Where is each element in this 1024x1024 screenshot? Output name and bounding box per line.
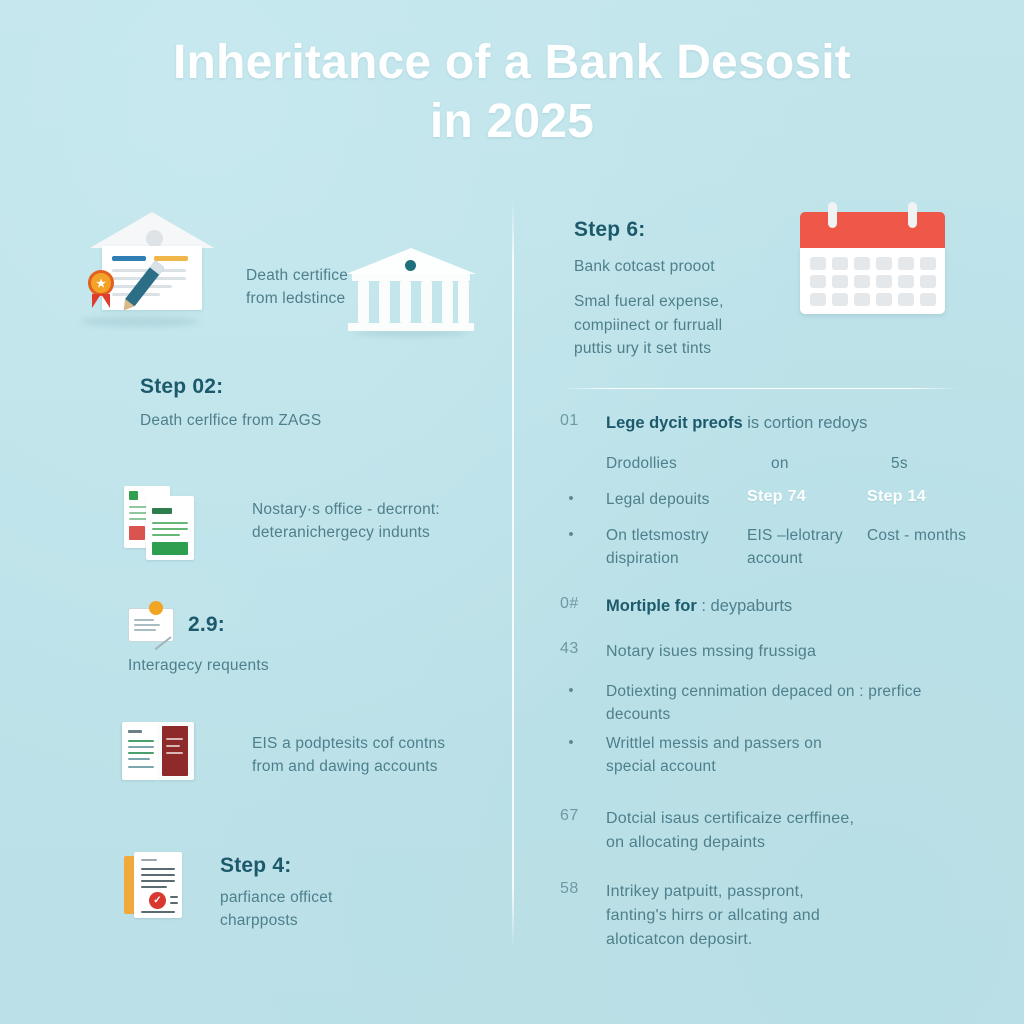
item-01-lead: Lege dycit preofs — [606, 414, 743, 432]
left-block-interagency: 2.9: Interagecy requents — [128, 608, 468, 677]
item-01-rest: is cortion redoys — [747, 414, 867, 432]
item-01-subheader-col-2: on — [771, 452, 891, 475]
item-05-line-2: fanting's hirrs or allcating and — [606, 904, 1010, 928]
title-line-2: in 2025 — [60, 93, 964, 152]
bullet-dot-icon: • — [560, 488, 582, 511]
item-04-number: 67 — [560, 807, 606, 855]
step-4-line-1: parfiance officet — [220, 886, 490, 909]
step-4-line-2: charpposts — [220, 909, 490, 932]
title-line-1: Inheritance of a Bank Desosit — [173, 36, 851, 89]
left-block-step-02: Step 02: Death cerlfice from ZAGS — [140, 375, 470, 432]
item-03-bullet-2: • Writtlel messis and passers on special… — [560, 732, 1010, 779]
item-02-lead: Mortiple for — [606, 597, 697, 615]
item-01-number: 01 — [560, 412, 606, 436]
step-6-line-2: compiinect or furruall — [574, 314, 804, 337]
item-03-bullet-1: • Dotiexting cennimation depaced on : pr… — [560, 680, 1010, 727]
item-05-line-1: Intrikey patpuitt, passpront, — [606, 880, 1010, 904]
item-05-line-3: aloticatcon deposirt. — [606, 928, 1010, 952]
step-02-body: Death cerlfice from ZAGS — [140, 409, 470, 432]
item-05-number: 58 — [560, 880, 606, 952]
item-03-bullet-1-line-2: decounts — [606, 703, 1010, 726]
item-04-line-1: Dotcial isaus certificaize cerffinee, — [606, 807, 1010, 831]
item-03-number: 43 — [560, 640, 606, 664]
notary-line-1: Nostary·s office - decrront: — [252, 498, 502, 521]
seal-icon: ★ — [88, 270, 114, 296]
item-01-subheader-row: Drodollies on 5s — [560, 452, 1010, 475]
bullet-dot-icon: • — [560, 680, 582, 727]
envelope-icon — [128, 608, 174, 642]
item-03-rest: Notary isues mssing frussiga — [606, 640, 1000, 664]
step-6-heading: Step 6: — [574, 218, 804, 242]
step-6-line-3: puttis ury it set tints — [574, 337, 804, 360]
notary-line-2: deteranichergecy indunts — [252, 521, 502, 544]
step-4-text: Step 4: parfiance officet charpposts — [220, 854, 490, 933]
eis-line-1: EIS a podptesits cof contns — [252, 732, 502, 755]
right-item-05: 58 Intrikey patpuitt, passpront, fanting… — [560, 880, 1010, 952]
right-item-01: 01 Lege dycit preofs is cortion redoys — [560, 412, 1000, 436]
item-01-bullet-2: • On tletsmostry dispiration EIS –lelotr… — [560, 524, 1020, 571]
page-title: Inheritance of a Bank Desosit in 2025 — [0, 34, 1024, 151]
bullet-1-col-1: Legal depouits — [606, 488, 747, 511]
step-02-heading: Step 02: — [140, 375, 470, 399]
right-item-03: 43 Notary isues mssing frussiga — [560, 640, 1000, 664]
eis-line-2: from and dawing accounts — [252, 755, 502, 778]
notary-caption: Nostary·s office - decrront: deteraniche… — [252, 498, 502, 545]
item-02-rest: : deypaburts — [701, 597, 792, 615]
bullet-2-col-1-line-1: On tletsmostry — [606, 524, 747, 547]
right-item-04: 67 Dotcial isaus certificaize cerffinee,… — [560, 807, 1010, 855]
bank-building-icon — [346, 240, 476, 340]
bullet-2-col-3-line-1: Cost - months — [867, 524, 987, 547]
right-header-text: Step 6: Bank cotcast prooot Smal fueral … — [574, 218, 804, 360]
document-seal-icon: ✓ — [124, 852, 186, 920]
bullet-2-col-1-line-2: dispiration — [606, 547, 747, 570]
item-01-subheader-col-3: 5s — [891, 452, 1001, 475]
interagency-heading: 2.9: — [188, 613, 225, 637]
step-4-heading: Step 4: — [220, 854, 490, 878]
green-documents-icon — [124, 486, 194, 560]
item-01-bullet-1: • Legal depouits Step 74 Step 14 — [560, 488, 1010, 511]
item-03-bullet-2-line-1: Writtlel messis and passers on — [606, 732, 1010, 755]
certificate-icon: ★ — [78, 212, 228, 327]
step-6-line-1: Smal fueral expense, — [574, 290, 804, 313]
eis-caption: EIS a podptesits cof contns from and daw… — [252, 732, 502, 779]
interagency-body: Interagecy requents — [128, 654, 468, 677]
right-column: Step 6: Bank cotcast prooot Smal fueral … — [512, 190, 1024, 960]
left-column: ★ Death certifice from ledstince — [0, 190, 512, 960]
bullet-1-col-2: Step 74 — [747, 488, 867, 511]
item-03-bullet-1-line-1: Dotiexting cennimation depaced on : prer… — [606, 680, 1010, 703]
bullet-1-col-3: Step 14 — [867, 488, 977, 511]
item-02-number: 0# — [560, 595, 606, 619]
right-item-02: 0# Mortiple for : deypaburts — [560, 595, 1000, 619]
bullet-2-col-2-line-2: account — [747, 547, 867, 570]
bullet-dot-icon: • — [560, 524, 582, 571]
calendar-icon — [800, 202, 945, 320]
bullet-dot-icon: • — [560, 732, 582, 779]
open-book-icon — [122, 722, 194, 784]
bullet-2-col-2-line-1: EIS –lelotrary — [747, 524, 867, 547]
step-6-subtitle: Bank cotcast prooot — [574, 255, 804, 278]
item-01-subheader-col-1: Drodollies — [606, 452, 771, 475]
item-04-line-2: on allocating depaints — [606, 831, 1010, 855]
item-03-bullet-2-line-2: special account — [606, 755, 1010, 778]
